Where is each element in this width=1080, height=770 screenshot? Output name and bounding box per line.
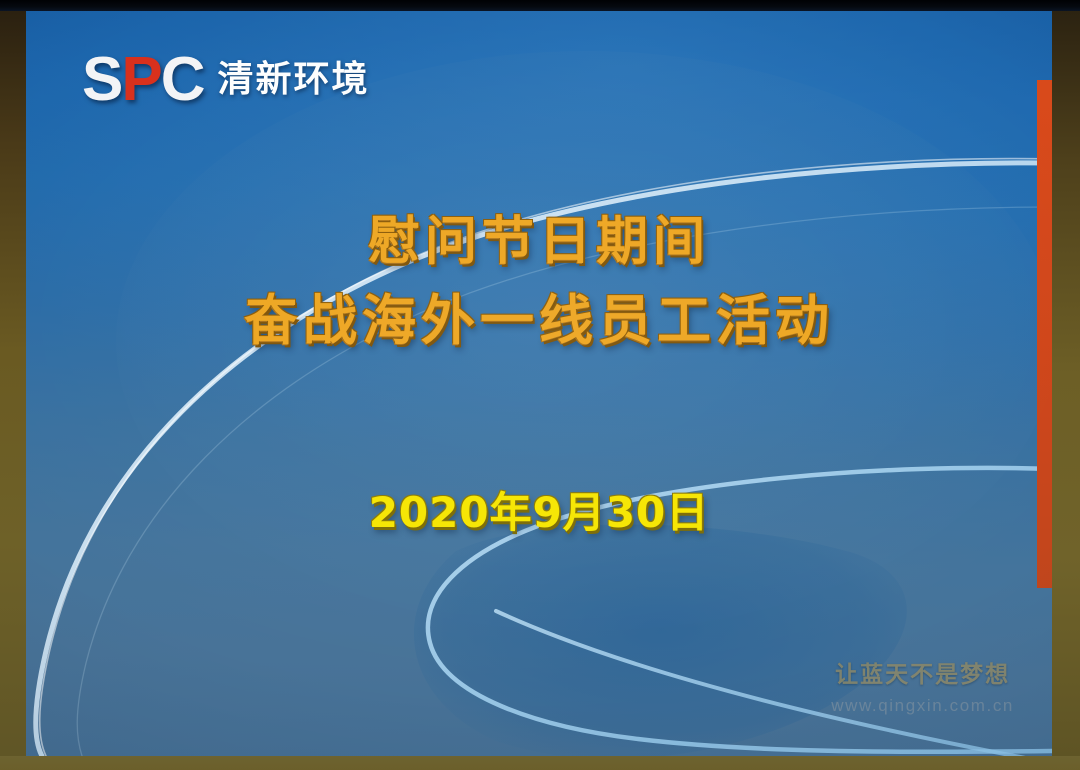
- projected-slide-photo: SPC 清新环境 慰问节日期间 奋战海外一线员工活动 2020年9月30日 让蓝…: [0, 0, 1080, 770]
- logo-company-name-cn: 清新环境: [218, 62, 370, 98]
- letterbox-top: [0, 0, 1080, 11]
- footer-slogan: 让蓝天不是梦想: [831, 655, 1014, 689]
- background-swirl-decoration: [26, 11, 1052, 756]
- logo-letter-s: S: [82, 45, 121, 114]
- slide-headline: 慰问节日期间 奋战海外一线员工活动: [26, 211, 1052, 354]
- wall-strip-left: [0, 8, 26, 770]
- slide-date: 2020年9月30日: [26, 479, 1052, 540]
- letterbox-bottom: [0, 756, 1080, 770]
- logo-wordmark: SPC: [82, 49, 204, 111]
- projector-haze-overlay: [26, 11, 1052, 756]
- slide-surface: SPC 清新环境 慰问节日期间 奋战海外一线员工活动 2020年9月30日 让蓝…: [26, 11, 1052, 756]
- headline-line-1: 慰问节日期间: [26, 211, 1052, 274]
- wall-strip-right: [1052, 8, 1080, 770]
- headline-line-2: 奋战海外一线员工活动: [26, 288, 1052, 354]
- logo-letter-c: C: [161, 45, 204, 114]
- company-logo: SPC 清新环境: [82, 49, 370, 111]
- slide-footer: 让蓝天不是梦想 www.qingxin.com.cn: [831, 655, 1014, 716]
- logo-letter-p: P: [121, 45, 160, 114]
- footer-website-url: www.qingxin.com.cn: [831, 696, 1014, 716]
